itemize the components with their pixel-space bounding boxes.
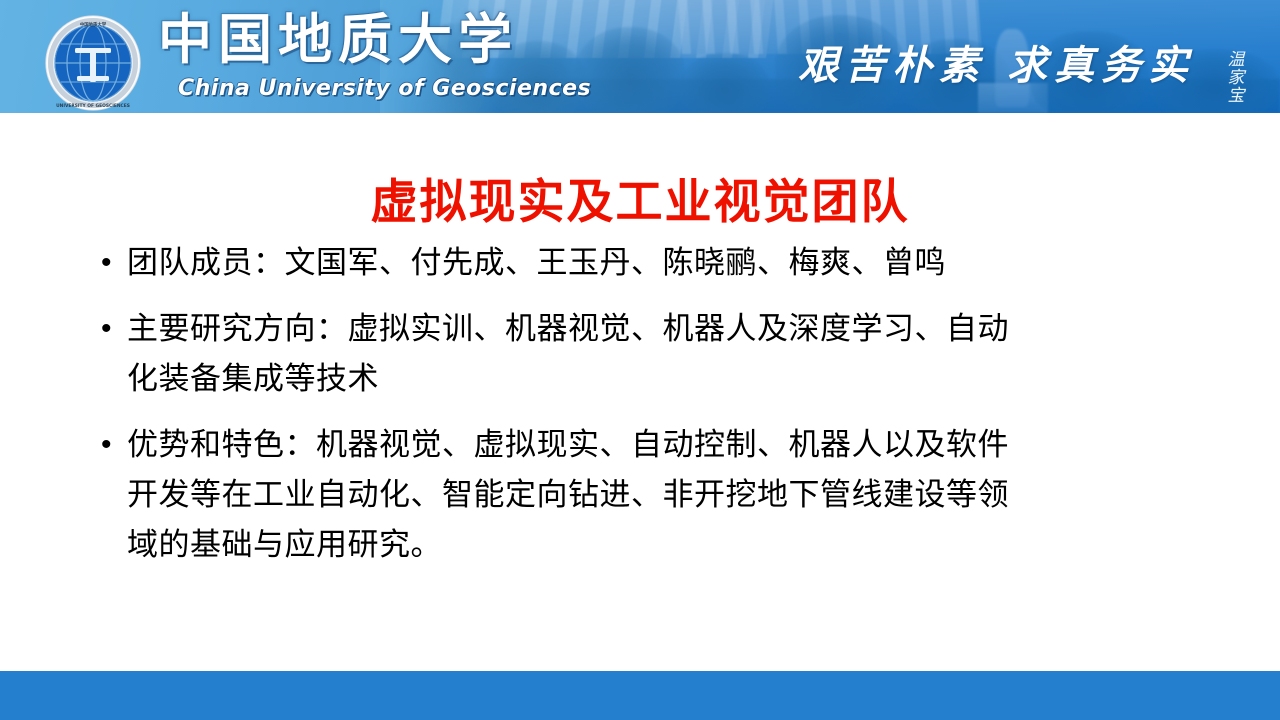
university-name-chinese: 中国地质大学 xyxy=(158,12,518,66)
university-name-english: China University of Geosciences xyxy=(178,78,591,100)
bullet-item: • 优势和特色：机器视觉、虚拟现实、自动控制、机器人以及软件 开发等在工业自动化… xyxy=(95,420,1205,570)
motto-signature: 温家宝 xyxy=(1224,52,1248,106)
slide-body-bullet-list: • 团队成员：文国军、付先成、王玉丹、陈晓鹂、梅爽、曾鸣 • 主要研究方向：虚拟… xyxy=(95,238,1205,586)
university-emblem-icon: 中国地质大学 UNIVERSITY OF GEOSCIENCES xyxy=(44,14,142,112)
bullet-line: 主要研究方向：虚拟实训、机器视觉、机器人及深度学习、自动 xyxy=(127,304,1205,354)
bullet-text: 主要研究方向：虚拟实训、机器视觉、机器人及深度学习、自动 化装备集成等技术 xyxy=(127,304,1205,404)
university-motto: 艰苦朴素 求真务实 xyxy=(798,46,1195,86)
presentation-slide: 中国地质大学 UNIVERSITY OF GEOSCIENCES 中国地质大学 … xyxy=(0,0,1280,720)
photo-tree xyxy=(680,53,770,113)
slide-title: 虚拟现实及工业视觉团队 xyxy=(0,175,1280,231)
slide-header-banner: 中国地质大学 UNIVERSITY OF GEOSCIENCES 中国地质大学 … xyxy=(0,0,1280,113)
svg-text:中国地质大学: 中国地质大学 xyxy=(80,21,107,28)
bullet-text: 优势和特色：机器视觉、虚拟现实、自动控制、机器人以及软件 开发等在工业自动化、智… xyxy=(127,420,1205,570)
bullet-line: 优势和特色：机器视觉、虚拟现实、自动控制、机器人以及软件 xyxy=(127,420,1205,470)
bullet-item: • 主要研究方向：虚拟实训、机器视觉、机器人及深度学习、自动 化装备集成等技术 xyxy=(95,304,1205,404)
bullet-marker-icon: • xyxy=(95,304,127,354)
svg-text:UNIVERSITY OF GEOSCIENCES: UNIVERSITY OF GEOSCIENCES xyxy=(56,103,130,109)
bullet-marker-icon: • xyxy=(95,238,127,288)
photo-tree xyxy=(575,27,685,113)
bullet-line: 域的基础与应用研究。 xyxy=(127,520,1205,570)
bullet-line: 开发等在工业自动化、智能定向钻进、非开挖地下管线建设等领 xyxy=(127,470,1205,520)
bullet-item: • 团队成员：文国军、付先成、王玉丹、陈晓鹂、梅爽、曾鸣 xyxy=(95,238,1205,288)
bullet-marker-icon: • xyxy=(95,420,127,470)
slide-footer-bar xyxy=(0,671,1280,720)
bullet-line: 化装备集成等技术 xyxy=(127,354,1205,404)
bullet-line: 团队成员：文国军、付先成、王玉丹、陈晓鹂、梅爽、曾鸣 xyxy=(127,238,1205,288)
bullet-text: 团队成员：文国军、付先成、王玉丹、陈晓鹂、梅爽、曾鸣 xyxy=(127,238,1205,288)
